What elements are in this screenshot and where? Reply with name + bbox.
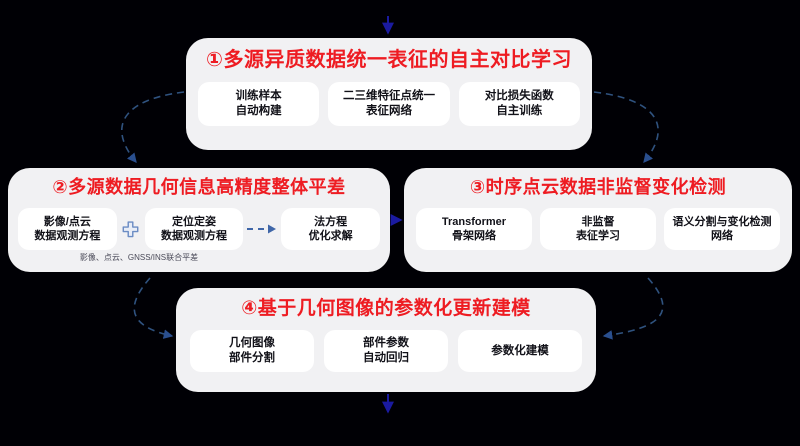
panel-3-box-2-line1: 非监督 — [582, 216, 615, 228]
panel-1-box-row: 训练样本 自动构建 二三维特征点统一 表征网络 对比损失函数 自主训练 — [198, 82, 580, 126]
panel-1-box-3[interactable]: 对比损失函数 自主训练 — [459, 82, 580, 126]
panel-3-box-3[interactable]: 语义分割与变化检测 网络 — [664, 208, 780, 250]
panel-1-box-2-line1: 二三维特征点统一 — [343, 90, 435, 102]
panel-4-title: ④基于几何图像的参数化更新建模 — [176, 288, 596, 318]
panel-4-box-2[interactable]: 部件参数 自动回归 — [324, 330, 448, 372]
panel-4-box-3-line1: 参数化建模 — [491, 344, 549, 359]
panel-2-box-2[interactable]: 定位定姿 数据观测方程 — [145, 208, 244, 250]
panel-1-box-3-line1: 对比损失函数 — [485, 90, 554, 102]
panel-4-box-row: 几何图像 部件分割 部件参数 自动回归 参数化建模 — [190, 330, 582, 372]
panel-2-box-3[interactable]: 法方程 优化求解 — [281, 208, 380, 250]
panel-2-box-2-line1: 定位定姿 — [172, 216, 216, 228]
panel-3-box-2-line2: 表征学习 — [576, 230, 620, 242]
panel-2-title: ②多源数据几何信息高精度整体平差 — [8, 168, 390, 196]
panel-1-box-1-line1: 训练样本 — [236, 90, 282, 102]
panel-4-box-1-line1: 几何图像 — [229, 337, 275, 349]
panel-4-box-2-line1: 部件参数 — [363, 337, 409, 349]
panel-2-box-3-line2: 优化求解 — [309, 230, 353, 242]
edge-panel1-to-panel3 — [594, 92, 658, 162]
panel-2-footnote: 影像、点云、GNSS/INS联合平差 — [24, 252, 254, 263]
panel-4-box-3[interactable]: 参数化建模 — [458, 330, 582, 372]
panel-3-box-3-line1: 语义分割与变化检测 — [673, 216, 772, 228]
panel-4-box-2-line2: 自动回归 — [363, 352, 409, 364]
edge-panel1-to-panel2 — [122, 92, 184, 162]
panel-3-box-1[interactable]: Transformer 骨架网络 — [416, 208, 532, 250]
edge-panel3-to-panel4 — [604, 278, 663, 336]
panel-3-title: ③时序点云数据非监督变化检测 — [404, 168, 792, 196]
panel-1-box-2-line2: 表征网络 — [366, 105, 412, 117]
plus-icon — [119, 208, 143, 250]
panel-3[interactable]: ③时序点云数据非监督变化检测 Transformer 骨架网络 非监督 表征学习… — [404, 168, 792, 272]
panel-2-box-1-line2: 数据观测方程 — [34, 230, 100, 242]
panel-1-box-1-line2: 自动构建 — [236, 105, 282, 117]
panel-3-box-1-line1: Transformer — [442, 216, 506, 228]
panel-3-box-row: Transformer 骨架网络 非监督 表征学习 语义分割与变化检测 网络 — [416, 208, 780, 250]
panel-2-box-2-line2: 数据观测方程 — [161, 230, 227, 242]
panel-1[interactable]: ①多源异质数据统一表征的自主对比学习 训练样本 自动构建 二三维特征点统一 表征… — [186, 38, 592, 150]
panel-4[interactable]: ④基于几何图像的参数化更新建模 几何图像 部件分割 部件参数 自动回归 参数化建… — [176, 288, 596, 392]
panel-1-box-1[interactable]: 训练样本 自动构建 — [198, 82, 319, 126]
edge-panel2-to-panel4 — [134, 278, 172, 336]
panel-1-title: ①多源异质数据统一表征的自主对比学习 — [186, 38, 592, 70]
panel-4-box-1-line2: 部件分割 — [229, 352, 275, 364]
panel-3-box-3-line2: 网络 — [711, 230, 733, 242]
panel-2-box-1-line1: 影像/点云 — [44, 216, 91, 228]
panel-1-box-3-line2: 自主训练 — [496, 105, 542, 117]
panel-2-box-1[interactable]: 影像/点云 数据观测方程 — [18, 208, 117, 250]
panel-3-box-1-line2: 骨架网络 — [452, 230, 496, 242]
panel-2-box-row: 影像/点云 数据观测方程 定位定姿 数据观测方程 — [18, 208, 380, 250]
diagram-canvas: ①多源异质数据统一表征的自主对比学习 训练样本 自动构建 二三维特征点统一 表征… — [0, 0, 800, 446]
panel-1-box-2[interactable]: 二三维特征点统一 表征网络 — [328, 82, 449, 126]
panel-4-box-1[interactable]: 几何图像 部件分割 — [190, 330, 314, 372]
panel-2[interactable]: ②多源数据几何信息高精度整体平差 影像/点云 数据观测方程 定位定姿 数据观测方… — [8, 168, 390, 272]
panel-3-box-2[interactable]: 非监督 表征学习 — [540, 208, 656, 250]
panel-2-box-3-line1: 法方程 — [314, 216, 347, 228]
dashed-arrow-right-icon — [245, 208, 279, 250]
